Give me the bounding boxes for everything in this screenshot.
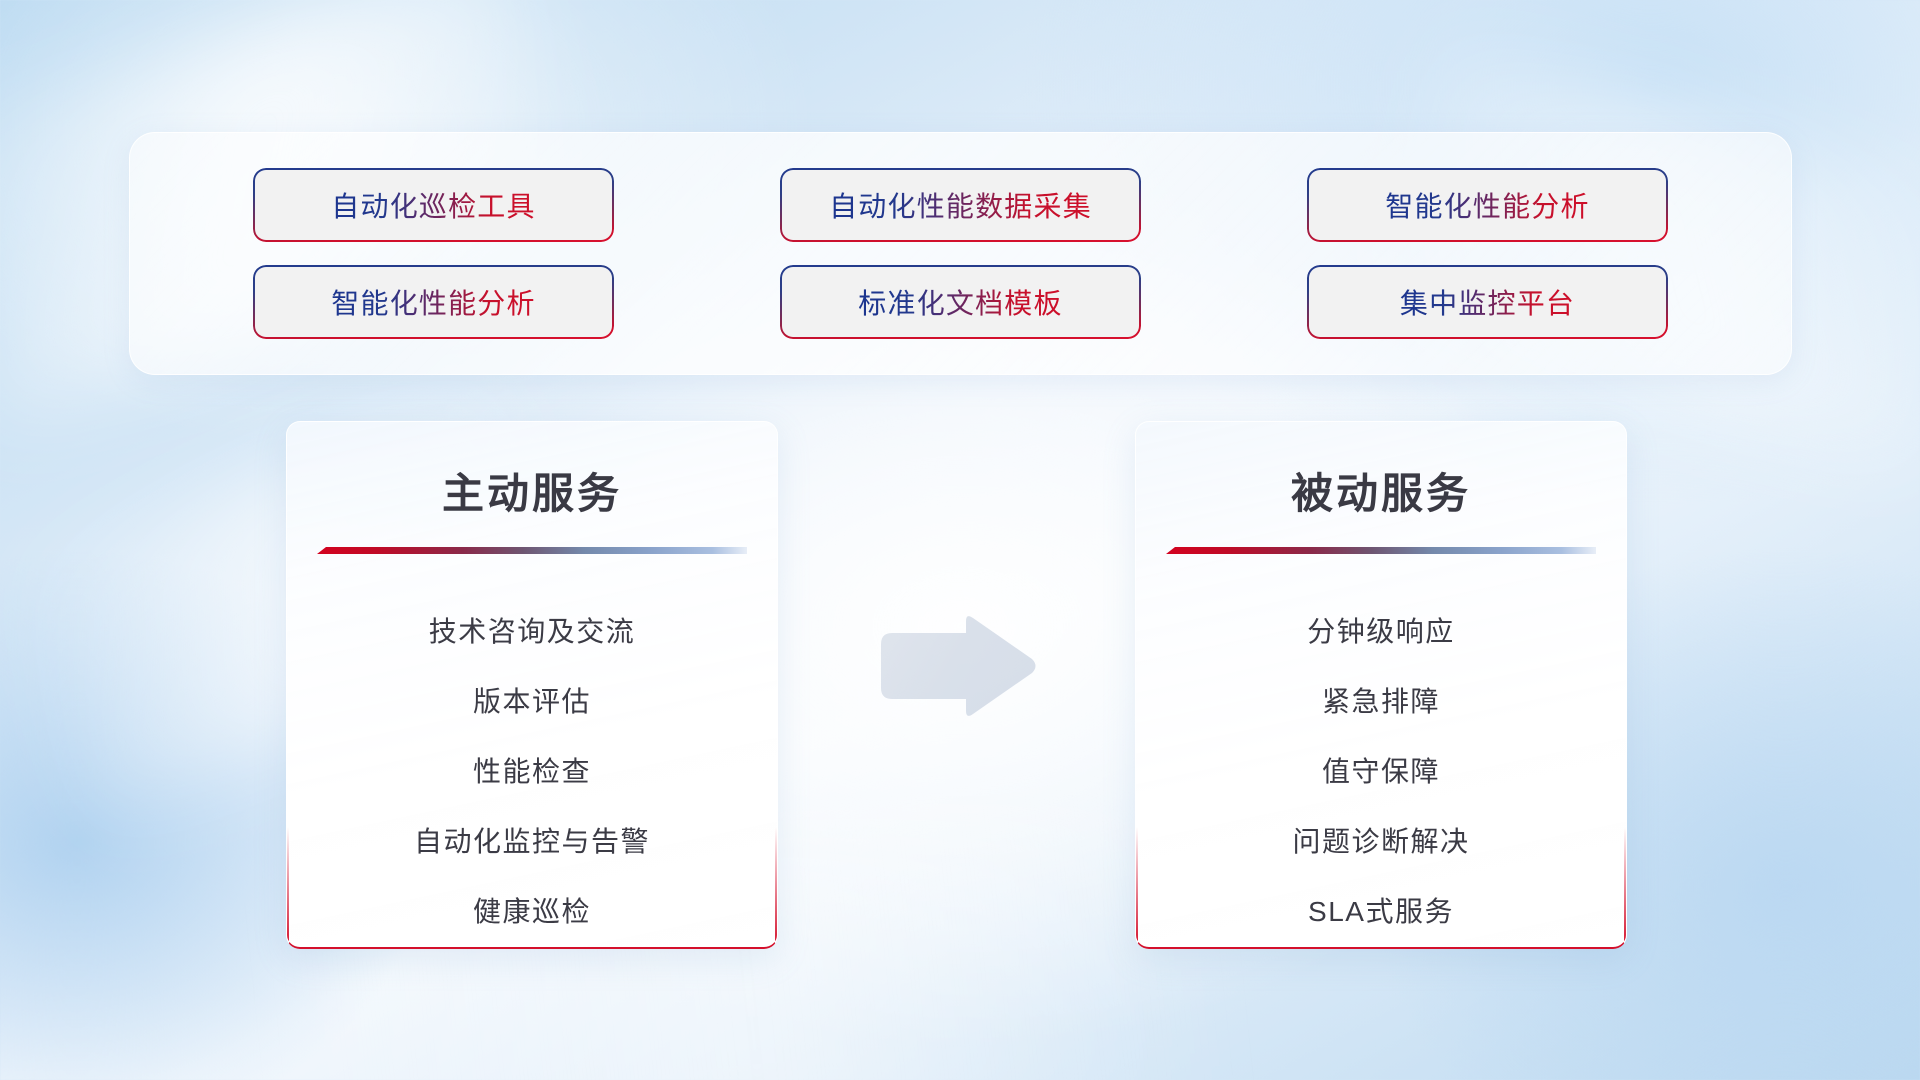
card-item-list: 分钟级响应 紧急排障 值守保障 问题诊断解决 SLA式服务 [1136, 597, 1626, 947]
service-card-reactive[interactable]: 被动服务 分钟级响应 紧急排障 值守保障 问题诊断解决 SLA式服务 [1135, 421, 1627, 949]
capability-pill-6[interactable]: 集中监控平台 [1309, 267, 1666, 337]
card-divider [317, 545, 747, 557]
capability-pill-label: 自动化巡检工具 [331, 185, 535, 225]
capability-pill-label: 集中监控平台 [1400, 282, 1575, 322]
card-title: 主动服务 [287, 460, 777, 521]
list-item: SLA式服务 [1308, 877, 1454, 947]
list-item: 版本评估 [473, 667, 591, 737]
capability-pill-label: 自动化性能数据采集 [829, 185, 1092, 225]
capability-pill-2[interactable]: 自动化性能数据采集 [782, 170, 1139, 240]
capability-pill-label: 智能化性能分析 [331, 282, 535, 322]
list-item: 性能检查 [473, 737, 591, 807]
list-item: 技术咨询及交流 [429, 597, 636, 667]
card-divider-bar [1166, 547, 1596, 554]
capability-pill-label: 智能化性能分析 [1385, 185, 1589, 225]
list-item: 自动化监控与告警 [414, 807, 650, 877]
list-item: 问题诊断解决 [1292, 807, 1469, 877]
list-item: 健康巡检 [473, 877, 591, 947]
capability-pill-5[interactable]: 标准化文档模板 [782, 267, 1139, 337]
right-arrow-icon [873, 612, 1038, 720]
card-item-list: 技术咨询及交流 版本评估 性能检查 自动化监控与告警 健康巡检 [287, 597, 777, 947]
card-divider-bar [317, 547, 747, 554]
list-item: 值守保障 [1322, 737, 1440, 807]
service-card-proactive[interactable]: 主动服务 技术咨询及交流 版本评估 性能检查 自动化监控与告警 健康巡检 [286, 421, 778, 949]
capability-pill-3[interactable]: 智能化性能分析 [1309, 170, 1666, 240]
list-item: 分钟级响应 [1307, 597, 1455, 667]
card-title: 被动服务 [1136, 460, 1626, 521]
capability-pill-1[interactable]: 自动化巡检工具 [255, 170, 612, 240]
list-item: 紧急排障 [1322, 667, 1440, 737]
capability-pill-label: 标准化文档模板 [858, 282, 1062, 322]
capability-pill-4[interactable]: 智能化性能分析 [255, 267, 612, 337]
card-divider [1166, 545, 1596, 557]
capabilities-panel: 自动化巡检工具 自动化性能数据采集 智能化性能分析 智能化性能分析 标准化文档模… [129, 132, 1792, 375]
